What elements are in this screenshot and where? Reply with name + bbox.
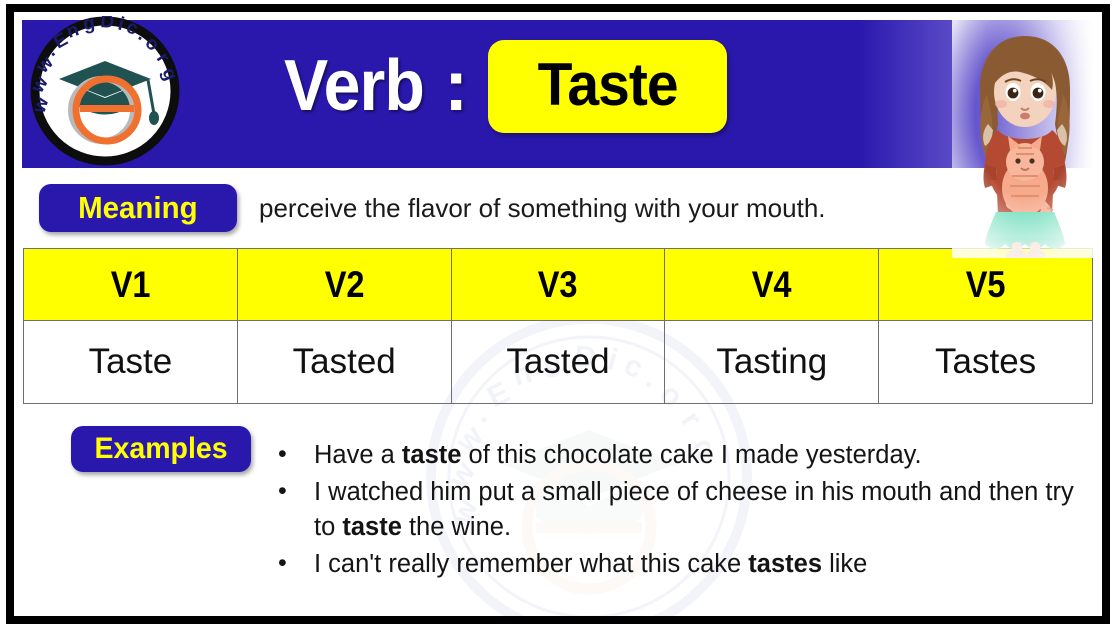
cell-v3: Tasted [451, 321, 665, 404]
poster-title: Verb : Taste [284, 20, 964, 152]
svg-text:g: g [82, 16, 96, 35]
column-header-v3-label: V3 [538, 264, 578, 306]
examples-badge: Examples [71, 426, 251, 472]
poster-inner: w w w . E n g D i c . o r g [14, 12, 1102, 616]
examples-list: Have a taste of this chocolate cake I ma… [264, 438, 1084, 584]
column-header-v4: V4 [665, 249, 879, 321]
meaning-row: Meaning perceive the flavor of something… [22, 168, 1094, 248]
list-item: I watched him put a small piece of chees… [264, 475, 1084, 545]
meaning-badge-label: Meaning [78, 190, 197, 226]
verb-forms-poster: w w w . E n g D i c . o r g [0, 0, 1116, 628]
example-keyword: taste [342, 513, 402, 541]
table-row: Taste Tasted Tasted Tasting Tastes [24, 321, 1093, 404]
verb-forms-table: V1 V2 V3 V4 V5 Taste Tasted Tasted Tasti… [23, 248, 1093, 404]
example-text-before: I can't really remember what this cake [314, 550, 748, 578]
title-separator: : [444, 45, 468, 127]
examples-section: Examples Have a taste of this chocolate … [22, 410, 1094, 608]
cell-v2: Tasted [237, 321, 451, 404]
girl-holding-cat-illustration [952, 20, 1098, 258]
example-text-before: Have a [314, 441, 402, 469]
example-text-after: of this chocolate cake I made yesterday. [461, 441, 921, 469]
column-header-v5-label: V5 [966, 264, 1006, 306]
table-header-row: V1 V2 V3 V4 V5 [24, 249, 1093, 321]
example-keyword: tastes [748, 550, 822, 578]
meaning-text: perceive the flavor of something with yo… [259, 193, 826, 224]
column-header-v5: V5 [879, 249, 1093, 321]
cell-v4: Tasting [665, 321, 879, 404]
cell-v1: Taste [24, 321, 238, 404]
list-item: I can't really remember what this cake t… [264, 547, 1084, 582]
column-header-v3: V3 [451, 249, 665, 321]
example-keyword: taste [402, 441, 462, 469]
example-text-after: the wine. [402, 513, 511, 541]
poster-frame: w w w . E n g D i c . o r g [6, 4, 1110, 624]
verb-label: Verb [284, 45, 424, 127]
svg-text:D: D [100, 16, 115, 33]
cell-v5: Tastes [879, 321, 1093, 404]
engdic-logo: w w w . E n g D i c . o r g [28, 16, 182, 166]
column-header-v1: V1 [24, 249, 238, 321]
column-header-v1-label: V1 [110, 264, 150, 306]
examples-badge-label: Examples [94, 432, 227, 466]
list-item: Have a taste of this chocolate cake I ma… [264, 438, 1084, 473]
column-header-v2: V2 [237, 249, 451, 321]
verb-word-text: Taste [538, 50, 678, 119]
column-header-v2-label: V2 [324, 264, 364, 306]
meaning-badge: Meaning [39, 184, 237, 232]
column-header-v4-label: V4 [752, 264, 792, 306]
example-text-after: like [822, 550, 867, 578]
verb-word-chip: Taste [488, 40, 727, 133]
